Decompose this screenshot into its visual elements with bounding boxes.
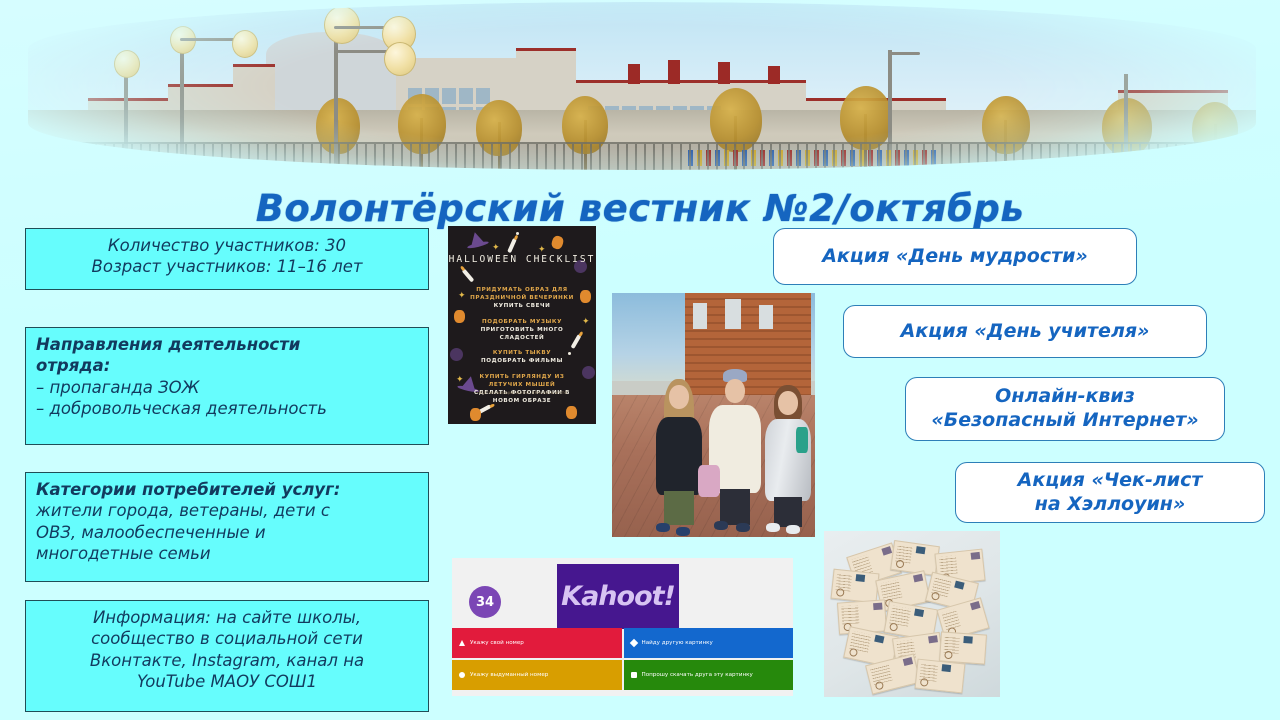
tree (840, 86, 892, 150)
categories-line-4: многодетные семьи (36, 543, 418, 564)
star-icon: ✦ (492, 244, 500, 253)
poster-item: ПРАЗДНИЧНОЙ ВЕЧЕРИНКИ (456, 294, 588, 302)
information-line-4: YouTube МАОУ СОШ1 (36, 671, 418, 692)
directions-line-2: отряда: (36, 355, 418, 376)
directions-line-4: – добровольческая деятельность (36, 398, 418, 419)
face (725, 379, 745, 403)
shopping-bag (698, 465, 720, 497)
categories-line-2: жители города, ветераны, дети с (36, 500, 418, 521)
halloween-checklist-poster: ✦ ✦ ✦ ✦ ✦ HALLOWEEN CHECKLIST ПРИДУМАТЬ … (448, 226, 596, 424)
poster-item: НОВОМ ОБРАЗЕ (456, 397, 588, 405)
poster-title: HALLOWEEN CHECKLIST (448, 253, 596, 267)
participants-line-1: Количество участников: 30 (36, 235, 418, 256)
metal-fence (68, 142, 1228, 170)
answer-option-red[interactable]: Укажу свой номер (452, 628, 622, 658)
street-lamp-globe (324, 6, 360, 44)
kahoot-logo-text: Kahoot! (561, 581, 675, 612)
postcard (831, 569, 880, 604)
info-box-categories: Категории потребителей услуг: жители гор… (25, 472, 429, 582)
poster-footnote: *ВСЕ ЖЕЛАЮЩИЕ МОГУТ ПРИСЛАТЬ ФОТО (458, 391, 586, 396)
categories-line-3: ОВЗ, малообеспеченные и (36, 522, 418, 543)
answer-option-blue[interactable]: Найду другую картинку (624, 628, 794, 658)
kahoot-quiz-screenshot: 34 Kahoot! Укажу свой номер Найду другую… (452, 558, 793, 696)
kahoot-logo: Kahoot! (557, 564, 679, 629)
halloween-label-line-1: Акция «Чек-лист (1018, 469, 1203, 493)
kahoot-answer-grid: Укажу свой номер Найду другую картинку У… (452, 628, 793, 690)
info-box-directions: Направления деятельности отряда: – пропа… (25, 327, 429, 445)
information-line-2: сообщество в социальной сети (36, 628, 418, 649)
photo-window (759, 305, 773, 329)
circle-icon (459, 672, 465, 678)
volunteers-photo (612, 293, 815, 537)
building-dome (266, 32, 396, 94)
face (669, 385, 689, 409)
poster-item: ПОДОБРАТЬ МУЗЫКУ (456, 318, 588, 326)
event-box-wisdom-day[interactable]: Акция «День мудрости» (773, 228, 1137, 285)
chimney (668, 60, 680, 84)
dot-icon (516, 232, 519, 235)
event-box-teacher-day[interactable]: Акция «День учителя» (843, 305, 1207, 358)
shoe (714, 521, 728, 530)
event-box-halloween-checklist[interactable]: Акция «Чек-лист на Хэллоуин» (955, 462, 1265, 523)
poster-item: ПРИДУМАТЬ ОБРАЗ ДЛЯ (456, 286, 588, 294)
answer-label: Найду другую картинку (642, 640, 713, 646)
participants-line-2: Возраст участников: 11–16 лет (36, 256, 418, 277)
directions-line-1: Направления деятельности (36, 334, 418, 355)
chimney (628, 64, 640, 84)
street-lamp-globe (232, 30, 258, 58)
directions-line-3: – пропаганда ЗОЖ (36, 377, 418, 398)
quiz-label-line-1: Онлайн-квиз (931, 385, 1198, 409)
information-line-1: Информация: на сайте школы, (36, 607, 418, 628)
halloween-label-line-2: на Хэллоуин» (1018, 493, 1203, 517)
volunteer-left (650, 379, 708, 537)
poster-item: ЛЕТУЧИХ МЫШЕЙ (456, 381, 588, 389)
answer-option-yellow[interactable]: Укажу выдуманный номер (452, 660, 622, 690)
categories-line-1: Категории потребителей услуг: (36, 479, 418, 500)
poster-item: КУПИТЬ СВЕЧИ (456, 302, 588, 310)
poster-title-line-1: HALLOWEEN (449, 254, 518, 265)
volunteer-right (760, 385, 815, 537)
poster-item: ПОДОБРАТЬ ФИЛЬМЫ (456, 357, 588, 365)
poster-item: СЛАДОСТЕЙ (456, 334, 588, 342)
event-box-online-quiz[interactable]: Онлайн-квиз «Безопасный Интернет» (905, 377, 1225, 441)
volunteer-center (704, 369, 766, 537)
answer-label: Укажу выдуманный номер (470, 672, 548, 678)
postcard (939, 631, 987, 664)
question-number-badge: 34 (469, 586, 501, 618)
answer-label: Попрошу скачать друга эту картинку (642, 672, 753, 678)
pumpkin-icon (550, 235, 564, 251)
face (778, 391, 798, 415)
wisdom-day-label: Акция «День мудрости» (822, 245, 1088, 269)
trousers (664, 491, 694, 525)
info-box-information: Информация: на сайте школы, сообщество в… (25, 600, 429, 712)
postcards-photo (824, 531, 1000, 697)
candle-icon (507, 238, 517, 253)
shoe (736, 523, 750, 532)
photo-window (693, 303, 707, 329)
teacher-day-label: Акция «День учителя» (901, 320, 1150, 344)
coat (656, 417, 702, 495)
poster-item: КУПИТЬ ТЫКВУ (456, 349, 588, 357)
slide-canvas: Волонтёрский вестник №2/октябрь Количест… (0, 0, 1280, 720)
trousers (774, 497, 802, 527)
square-icon (631, 672, 637, 678)
answer-option-green[interactable]: Попрошу скачать друга эту картинку (624, 660, 794, 690)
shoe (656, 523, 670, 532)
backpack (796, 427, 808, 453)
street-lamp-globe (384, 42, 416, 76)
street-lamp-arm (180, 38, 238, 41)
quiz-label-line-2: «Безопасный Интернет» (931, 409, 1198, 433)
school-building-photo (28, 2, 1256, 170)
poster-title-line-2: CHECKLIST (526, 254, 595, 265)
postcard (915, 659, 966, 694)
information-line-3: Вконтакте, Instagram, канал на (36, 650, 418, 671)
info-box-participants: Количество участников: 30 Возраст участн… (25, 228, 429, 290)
header-banner (0, 0, 1280, 172)
poster-item: КУПИТЬ ГИРЛЯНДУ ИЗ (456, 373, 588, 381)
answer-label: Укажу свой номер (470, 640, 524, 646)
candle-icon (462, 268, 475, 282)
diamond-icon (629, 639, 637, 647)
chimney (768, 66, 780, 84)
page-title: Волонтёрский вестник №2/октябрь (0, 187, 1280, 230)
poster-item: ПРИГОТОВИТЬ МНОГО (456, 326, 588, 334)
photo-window (725, 299, 741, 329)
witch-hat-icon (468, 231, 485, 247)
shoe (766, 523, 780, 532)
triangle-icon (459, 640, 465, 646)
chimney (718, 62, 730, 84)
shoe (676, 527, 690, 536)
postcard (890, 540, 940, 576)
trousers (720, 489, 750, 525)
street-lamp-globe (114, 50, 140, 78)
street-lamp-arm (888, 52, 920, 55)
shoe (786, 525, 800, 534)
